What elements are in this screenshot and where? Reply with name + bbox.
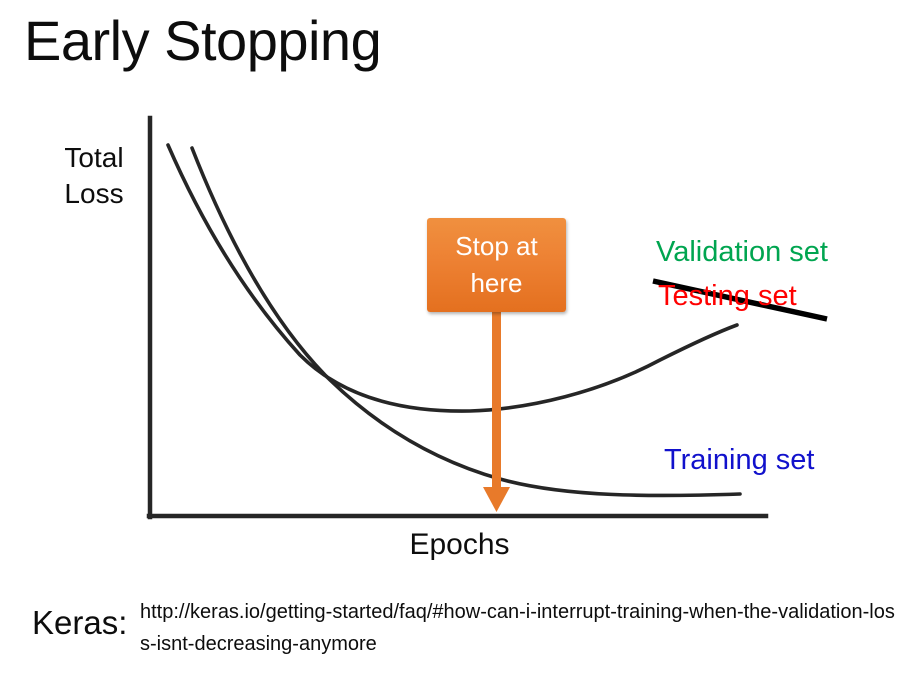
- loss-curve-chart: Total Loss Epochs Validation set Testing…: [0, 0, 920, 681]
- stop-callout-line1: Stop at: [455, 228, 537, 265]
- y-axis-title-line1: Total: [46, 140, 142, 176]
- legend-label-training-set: Training set: [664, 444, 814, 477]
- legend-label-testing-set: Testing set: [658, 280, 797, 313]
- stop-at-here-callout: Stop at here: [427, 218, 566, 312]
- slide-early-stopping: Early Stopping Total Loss Epoc: [0, 0, 920, 681]
- x-axis-title: Epochs: [352, 528, 567, 562]
- stop-callout-line2: here: [470, 265, 522, 302]
- y-axis-title: Total Loss: [46, 140, 142, 212]
- footer-source-url: http://keras.io/getting-started/faq/#how…: [140, 596, 900, 661]
- training-loss-curve: [192, 148, 740, 495]
- legend-label-validation-set: Validation set: [656, 236, 828, 269]
- arrow-head: [483, 487, 510, 512]
- chart-svg: [0, 0, 920, 681]
- y-axis-title-line2: Loss: [46, 176, 142, 212]
- footer-source-label: Keras:: [32, 604, 127, 642]
- arrow-shaft: [492, 310, 501, 493]
